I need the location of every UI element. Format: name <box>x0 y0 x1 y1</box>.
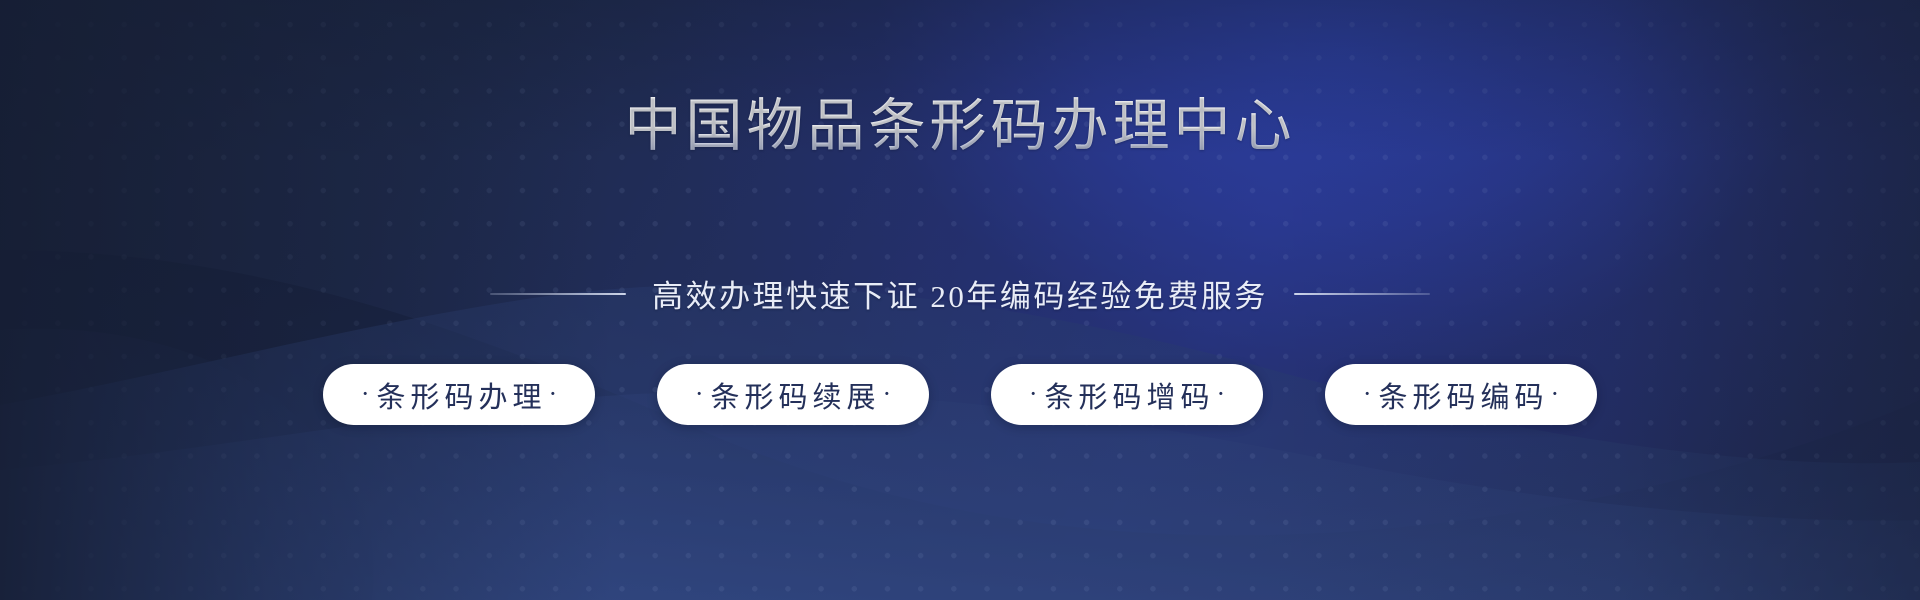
service-pill-barcode-encode[interactable]: · 条形码编码 · <box>1325 364 1597 425</box>
pill-content: · 条形码编码 · <box>1363 374 1559 416</box>
subtitle-row: 高效办理快速下证 20年编码经验免费服务 <box>490 271 1430 316</box>
bullet-dot-right: · <box>1551 381 1560 407</box>
service-pill-barcode-renew[interactable]: · 条形码续展 · <box>657 364 929 425</box>
service-pill-label: 条形码增码 <box>1039 374 1214 416</box>
pill-content: · 条形码办理 · <box>361 374 557 416</box>
bullet-dot-left: · <box>1029 381 1038 407</box>
service-pill-barcode-add[interactable]: · 条形码增码 · <box>991 364 1263 425</box>
bullet-dot-left: · <box>695 381 704 407</box>
bullet-dot-right: · <box>549 381 558 407</box>
bullet-dot-right: · <box>1217 381 1226 407</box>
pill-content: · 条形码增码 · <box>1029 374 1225 416</box>
page-subtitle: 高效办理快速下证 20年编码经验免费服务 <box>652 271 1268 316</box>
hero-banner: 中国物品条形码办理中心 高效办理快速下证 20年编码经验免费服务 · 条形码办理… <box>0 0 1920 600</box>
pill-content: · 条形码续展 · <box>695 374 891 416</box>
service-pill-barcode-apply[interactable]: · 条形码办理 · <box>323 364 595 425</box>
service-pill-label: 条形码办理 <box>371 374 546 416</box>
divider-line-right <box>1294 293 1430 295</box>
service-pill-label: 条形码续展 <box>705 374 880 416</box>
bullet-dot-right: · <box>883 381 892 407</box>
banner-content: 中国物品条形码办理中心 高效办理快速下证 20年编码经验免费服务 · 条形码办理… <box>0 0 1920 600</box>
divider-line-left <box>490 293 626 295</box>
service-pill-list: · 条形码办理 · · 条形码续展 · · 条形码增码 · <box>323 364 1597 425</box>
page-title: 中国物品条形码办理中心 <box>625 95 1296 159</box>
service-pill-label: 条形码编码 <box>1373 374 1548 416</box>
bullet-dot-left: · <box>1363 381 1372 407</box>
bullet-dot-left: · <box>361 381 370 407</box>
